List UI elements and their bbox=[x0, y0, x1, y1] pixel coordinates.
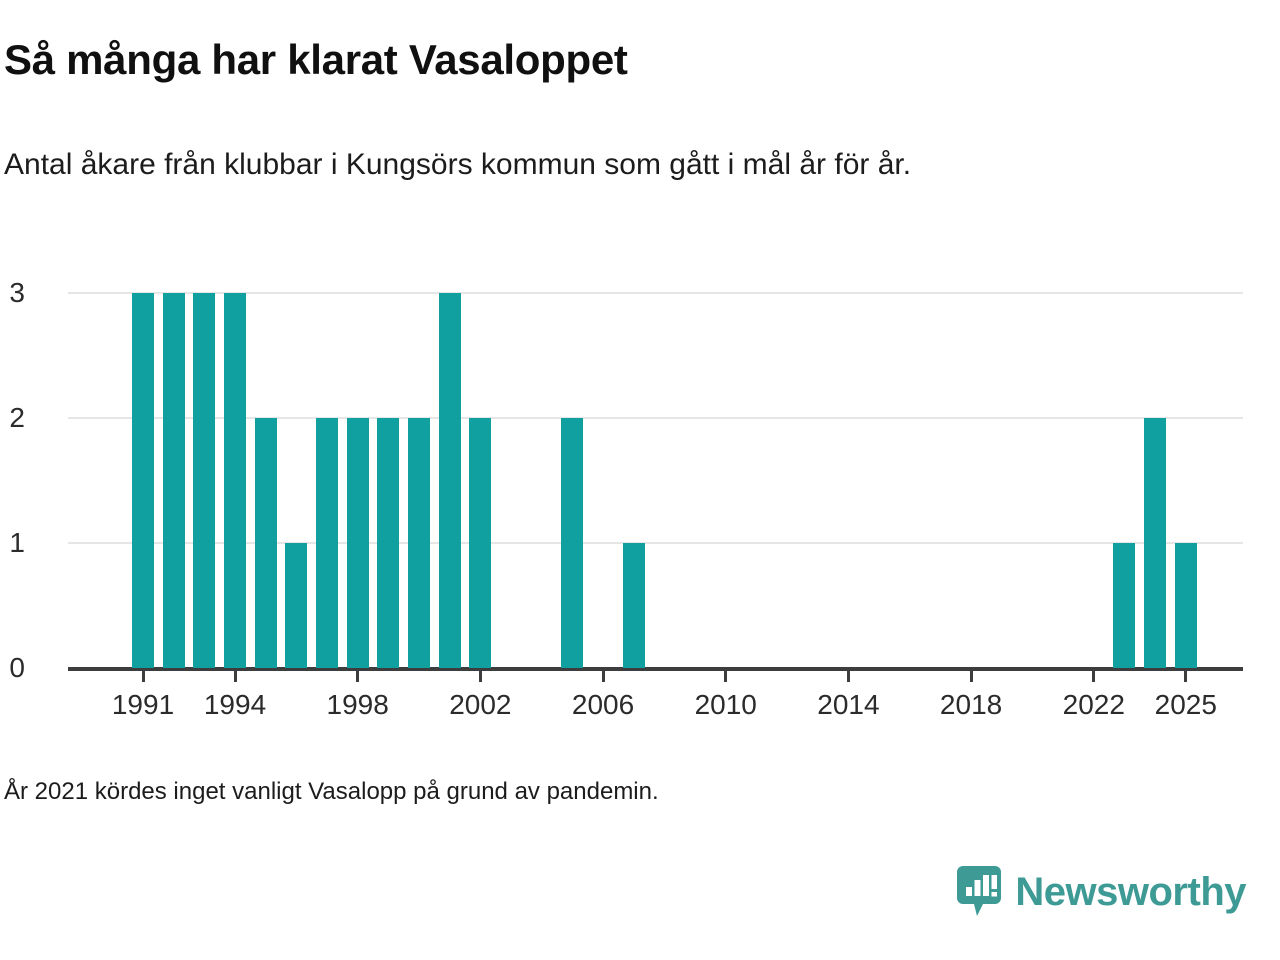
bar[interactable] bbox=[193, 293, 215, 668]
x-tick bbox=[847, 668, 850, 682]
logo-wordmark: Newsworthy bbox=[1015, 870, 1246, 915]
bar[interactable] bbox=[224, 293, 246, 668]
bar[interactable] bbox=[408, 418, 430, 668]
chart-footnote: År 2021 kördes inget vanligt Vasalopp på… bbox=[4, 778, 659, 806]
x-axis-label: 1998 bbox=[327, 689, 389, 721]
y-axis-label: 3 bbox=[0, 277, 25, 309]
newsworthy-logo: Newsworthy bbox=[957, 866, 1246, 918]
bar[interactable] bbox=[1113, 543, 1135, 668]
x-tick bbox=[1092, 668, 1095, 682]
x-axis-label: 2022 bbox=[1063, 689, 1125, 721]
bar[interactable] bbox=[163, 293, 185, 668]
bar[interactable] bbox=[316, 418, 338, 668]
bar[interactable] bbox=[132, 293, 154, 668]
bar[interactable] bbox=[623, 543, 645, 668]
bar[interactable] bbox=[285, 543, 307, 668]
x-axis-label: 2006 bbox=[572, 689, 634, 721]
x-tick bbox=[142, 668, 145, 682]
page-title: Så många har klarat Vasaloppet bbox=[4, 36, 628, 84]
x-tick bbox=[1184, 668, 1187, 682]
y-axis-label: 1 bbox=[0, 527, 25, 559]
x-axis-label: 2018 bbox=[940, 689, 1002, 721]
x-tick bbox=[970, 668, 973, 682]
x-axis-label: 2025 bbox=[1155, 689, 1217, 721]
x-axis-label: 1994 bbox=[204, 689, 266, 721]
x-tick bbox=[356, 668, 359, 682]
bar[interactable] bbox=[469, 418, 491, 668]
y-axis-label: 2 bbox=[0, 402, 25, 434]
x-axis-label: 1991 bbox=[112, 689, 174, 721]
bar[interactable] bbox=[255, 418, 277, 668]
bar[interactable] bbox=[439, 293, 461, 668]
x-axis-label: 2014 bbox=[817, 689, 879, 721]
x-axis-label: 2010 bbox=[695, 689, 757, 721]
chart-page: Så många har klarat Vasaloppet Antal åka… bbox=[0, 0, 1280, 960]
bar[interactable] bbox=[1175, 543, 1197, 668]
bar[interactable] bbox=[347, 418, 369, 668]
bar[interactable] bbox=[1144, 418, 1166, 668]
x-tick bbox=[602, 668, 605, 682]
x-tick bbox=[479, 668, 482, 682]
bar-chart: 0123 19911994199820022006201020142018202… bbox=[0, 260, 1280, 720]
y-axis-label: 0 bbox=[0, 652, 25, 684]
x-tick bbox=[724, 668, 727, 682]
speech-bubble-bar-chart-icon bbox=[957, 866, 1001, 918]
x-axis-label: 2002 bbox=[449, 689, 511, 721]
page-subtitle: Antal åkare från klubbar i Kungsörs komm… bbox=[4, 148, 911, 182]
x-tick bbox=[234, 668, 237, 682]
bar[interactable] bbox=[561, 418, 583, 668]
bar[interactable] bbox=[377, 418, 399, 668]
plot-area: 0123 19911994199820022006201020142018202… bbox=[68, 293, 1243, 668]
